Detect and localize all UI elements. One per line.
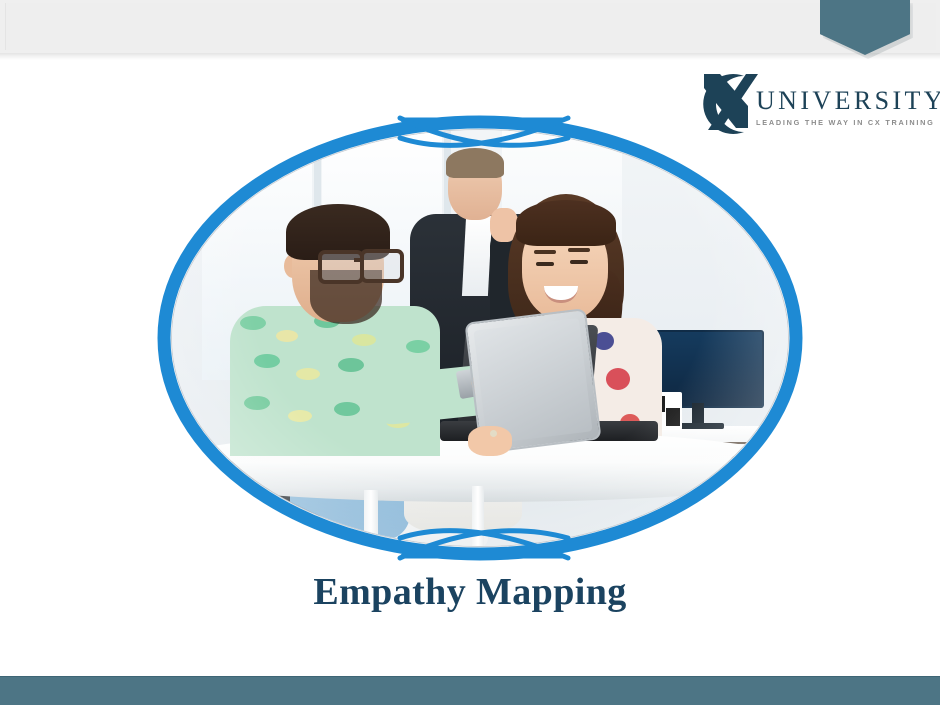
- slide-canvas: UNIVERSITY LEADING THE WAY IN CX TRAININ…: [0, 0, 940, 705]
- footer-bar: [0, 677, 940, 705]
- hero-photo: [172, 130, 788, 546]
- slide-title: Empathy Mapping: [0, 570, 940, 614]
- header-band-inner: [5, 3, 936, 50]
- hero-oval-frame: [150, 108, 810, 568]
- photo-vignette: [172, 130, 788, 546]
- header-shadow: [0, 53, 940, 60]
- header-band: [0, 0, 940, 53]
- photo-scene: [172, 130, 788, 546]
